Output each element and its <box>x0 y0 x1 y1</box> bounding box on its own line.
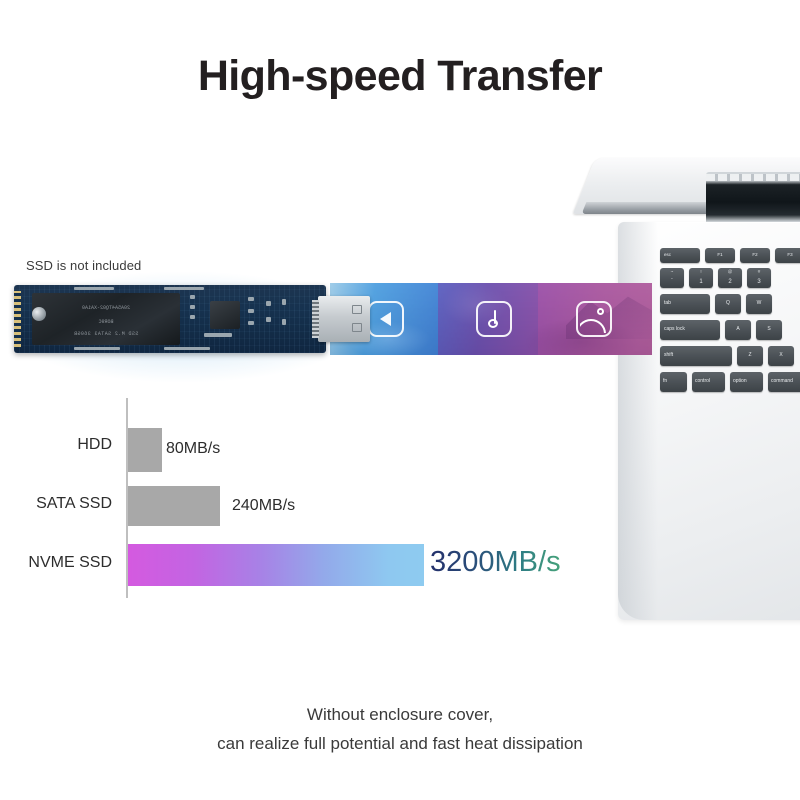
key-f3[interactable]: F3 <box>775 248 800 263</box>
chart-bar-hdd <box>128 428 162 472</box>
key-f1[interactable]: F1 <box>705 248 735 263</box>
chart-category-label-hdd: HDD <box>2 436 112 454</box>
video-icon <box>368 301 404 337</box>
ssd-module: 20A5A4TQ02-XA1A0 BOR9C SSD M.2 SATA3 360… <box>14 285 326 353</box>
laptop-body-shading <box>618 222 658 620</box>
key-fn[interactable]: fn <box>660 372 687 392</box>
usb-pin-slot-bottom <box>352 323 362 332</box>
product-marketing-image: High-speed Transfer esc F1 F2 F3 ~ ` ! <box>0 0 800 800</box>
key-command[interactable]: command <box>768 372 800 392</box>
media-transfer-band <box>330 283 652 355</box>
key-tab[interactable]: tab <box>660 294 710 314</box>
key-control[interactable]: control <box>692 372 725 392</box>
key-2[interactable]: @ 2 <box>718 268 742 288</box>
laptop-hinge-vent <box>706 174 800 181</box>
photo-icon <box>576 301 612 337</box>
key-s[interactable]: S <box>756 320 782 340</box>
chart-value-label-hdd: 80MB/s <box>166 440 220 458</box>
bottom-caption: Without enclosure cover, can realize ful… <box>0 700 800 758</box>
chart-bar-sata-ssd <box>128 486 220 526</box>
key-caps-lock[interactable]: caps lock <box>660 320 720 340</box>
key-x[interactable]: X <box>768 346 794 366</box>
key-shift[interactable]: shift <box>660 346 732 366</box>
key-w[interactable]: W <box>746 294 772 314</box>
chart-bar-nvme-ssd <box>128 544 424 586</box>
speed-comparison-chart: HDD 80MB/s SATA SSD 240MB/s NVME SSD 320… <box>0 398 600 598</box>
chart-category-label-sata-ssd: SATA SSD <box>2 495 112 513</box>
chart-value-label-nvme-ssd: 3200MB/s <box>430 546 561 579</box>
photo-hill-line <box>580 315 608 333</box>
key-f2[interactable]: F2 <box>740 248 770 263</box>
key-1[interactable]: ! 1 <box>689 268 713 288</box>
usb-connector <box>318 296 370 342</box>
music-note-head <box>488 319 498 328</box>
caption-line-2: can realize full potential and fast heat… <box>0 729 800 758</box>
music-icon <box>476 301 512 337</box>
key-a[interactable]: A <box>725 320 751 340</box>
usb-pin-slot-top <box>352 305 362 314</box>
ssd-smd-components <box>14 285 326 353</box>
key-esc[interactable]: esc <box>660 248 700 263</box>
key-option[interactable]: option <box>730 372 763 392</box>
ssd-not-included-note: SSD is not included <box>26 258 141 273</box>
page-title: High-speed Transfer <box>0 52 800 101</box>
laptop-keyboard: esc F1 F2 F3 ~ ` ! 1 @ 2 # <box>660 248 800 440</box>
key-q[interactable]: Q <box>715 294 741 314</box>
caption-line-1: Without enclosure cover, <box>0 700 800 729</box>
key-z[interactable]: Z <box>737 346 763 366</box>
chart-category-label-nvme-ssd: NVME SSD <box>2 554 112 572</box>
chart-value-label-sata-ssd: 240MB/s <box>232 497 295 515</box>
photo-sun-dot <box>597 308 604 315</box>
key-backtick[interactable]: ~ ` <box>660 268 684 288</box>
key-3[interactable]: # 3 <box>747 268 771 288</box>
